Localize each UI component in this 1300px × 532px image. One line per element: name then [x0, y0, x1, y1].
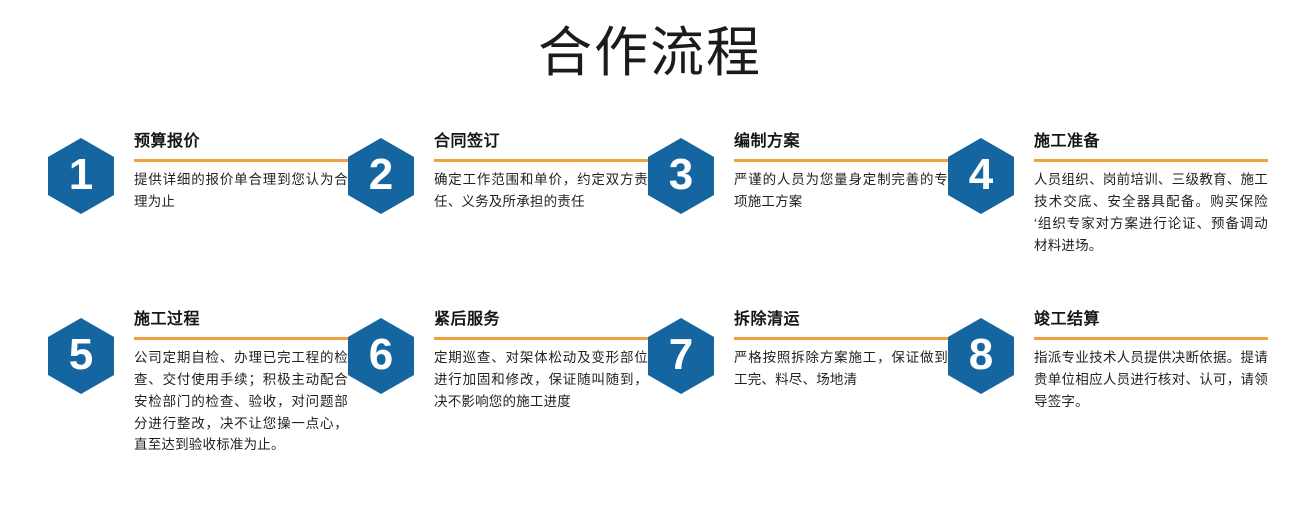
step-title: 施工过程: [134, 310, 348, 330]
step-number: 4: [969, 153, 993, 197]
step-number: 6: [369, 333, 393, 377]
hexagon-badge-7: 7: [648, 318, 714, 394]
title-underline: [134, 337, 348, 340]
steps-row-2: 5 施工过程 公司定期自检、办理已完工程的检查、交付使用手续；积极主动配合安检部…: [0, 310, 1300, 510]
step-title: 紧后服务: [434, 310, 648, 330]
step-content-8: 竣工结算 指派专业技术人员提供决断依据。提请贵单位相应人员进行核对、认可，请领导…: [1034, 310, 1268, 413]
step-description: 人员组织、岗前培训、三级教育、施工技术交底、安全器具配备。购买保险 ‘组织专家对…: [1034, 169, 1268, 256]
hexagon-icon: 2: [348, 138, 414, 214]
title-underline: [1034, 337, 1268, 340]
hexagon-icon: 8: [948, 318, 1014, 394]
step-description: 定期巡查、对架体松动及变形部位进行加固和修改，保证随叫随到，决不影响您的施工进度: [434, 347, 648, 413]
title-underline: [734, 159, 948, 162]
steps-row-1: 1 预算报价 提供详细的报价单合理到您认为合理为止 2 合同签订: [0, 132, 1300, 310]
step-title: 合同签订: [434, 132, 648, 152]
title-underline: [434, 337, 648, 340]
step-number: 1: [69, 153, 93, 197]
step-content-1: 预算报价 提供详细的报价单合理到您认为合理为止: [134, 132, 348, 213]
hexagon-badge-3: 3: [648, 138, 714, 214]
hexagon-badge-4: 4: [948, 138, 1014, 214]
hexagon-badge-5: 5: [48, 318, 114, 394]
step-number: 3: [669, 153, 693, 197]
step-title: 拆除清运: [734, 310, 948, 330]
step-content-6: 紧后服务 定期巡查、对架体松动及变形部位进行加固和修改，保证随叫随到，决不影响您…: [434, 310, 648, 413]
title-underline: [1034, 159, 1268, 162]
hexagon-badge-6: 6: [348, 318, 414, 394]
step-number: 5: [69, 333, 93, 377]
hexagon-icon: 4: [948, 138, 1014, 214]
hexagon-badge-1: 1: [48, 138, 114, 214]
step-description: 确定工作范围和单价，约定双方责任、义务及所承担的责任: [434, 169, 648, 213]
title-underline: [434, 159, 648, 162]
hexagon-icon: 5: [48, 318, 114, 394]
hexagon-icon: 7: [648, 318, 714, 394]
page-title: 合作流程: [0, 22, 1300, 84]
step-description: 公司定期自检、办理已完工程的检查、交付使用手续；积极主动配合安检部门的检查、验收…: [134, 347, 348, 456]
step-content-2: 合同签订 确定工作范围和单价，约定双方责任、义务及所承担的责任: [434, 132, 648, 213]
step-number: 2: [369, 153, 393, 197]
step-content-7: 拆除清运 严格按照拆除方案施工，保证做到工完、料尽、场地清: [734, 310, 948, 391]
hexagon-badge-8: 8: [948, 318, 1014, 394]
step-description: 指派专业技术人员提供决断依据。提请贵单位相应人员进行核对、认可，请领导签字。: [1034, 347, 1268, 413]
title-underline: [134, 159, 348, 162]
step-title: 施工准备: [1034, 132, 1268, 152]
step-title: 编制方案: [734, 132, 948, 152]
step-content-4: 施工准备 人员组织、岗前培训、三级教育、施工技术交底、安全器具配备。购买保险 ‘…: [1034, 132, 1268, 256]
step-number: 8: [969, 333, 993, 377]
hexagon-icon: 6: [348, 318, 414, 394]
step-description: 严格按照拆除方案施工，保证做到工完、料尽、场地清: [734, 347, 948, 391]
cooperation-process-infographic: 合作流程 1 预算报价 提供详细的报价单合理到您认为合理为止: [0, 0, 1300, 532]
step-description: 严谨的人员为您量身定制完善的专项施工方案: [734, 169, 948, 213]
hexagon-icon: 1: [48, 138, 114, 214]
step-title: 预算报价: [134, 132, 348, 152]
steps-grid: 1 预算报价 提供详细的报价单合理到您认为合理为止 2 合同签订: [0, 132, 1300, 510]
step-content-5: 施工过程 公司定期自检、办理已完工程的检查、交付使用手续；积极主动配合安检部门的…: [134, 310, 348, 456]
step-description: 提供详细的报价单合理到您认为合理为止: [134, 169, 348, 213]
hexagon-badge-2: 2: [348, 138, 414, 214]
hexagon-icon: 3: [648, 138, 714, 214]
step-number: 7: [669, 333, 693, 377]
step-title: 竣工结算: [1034, 310, 1268, 330]
step-content-3: 编制方案 严谨的人员为您量身定制完善的专项施工方案: [734, 132, 948, 213]
title-underline: [734, 337, 948, 340]
